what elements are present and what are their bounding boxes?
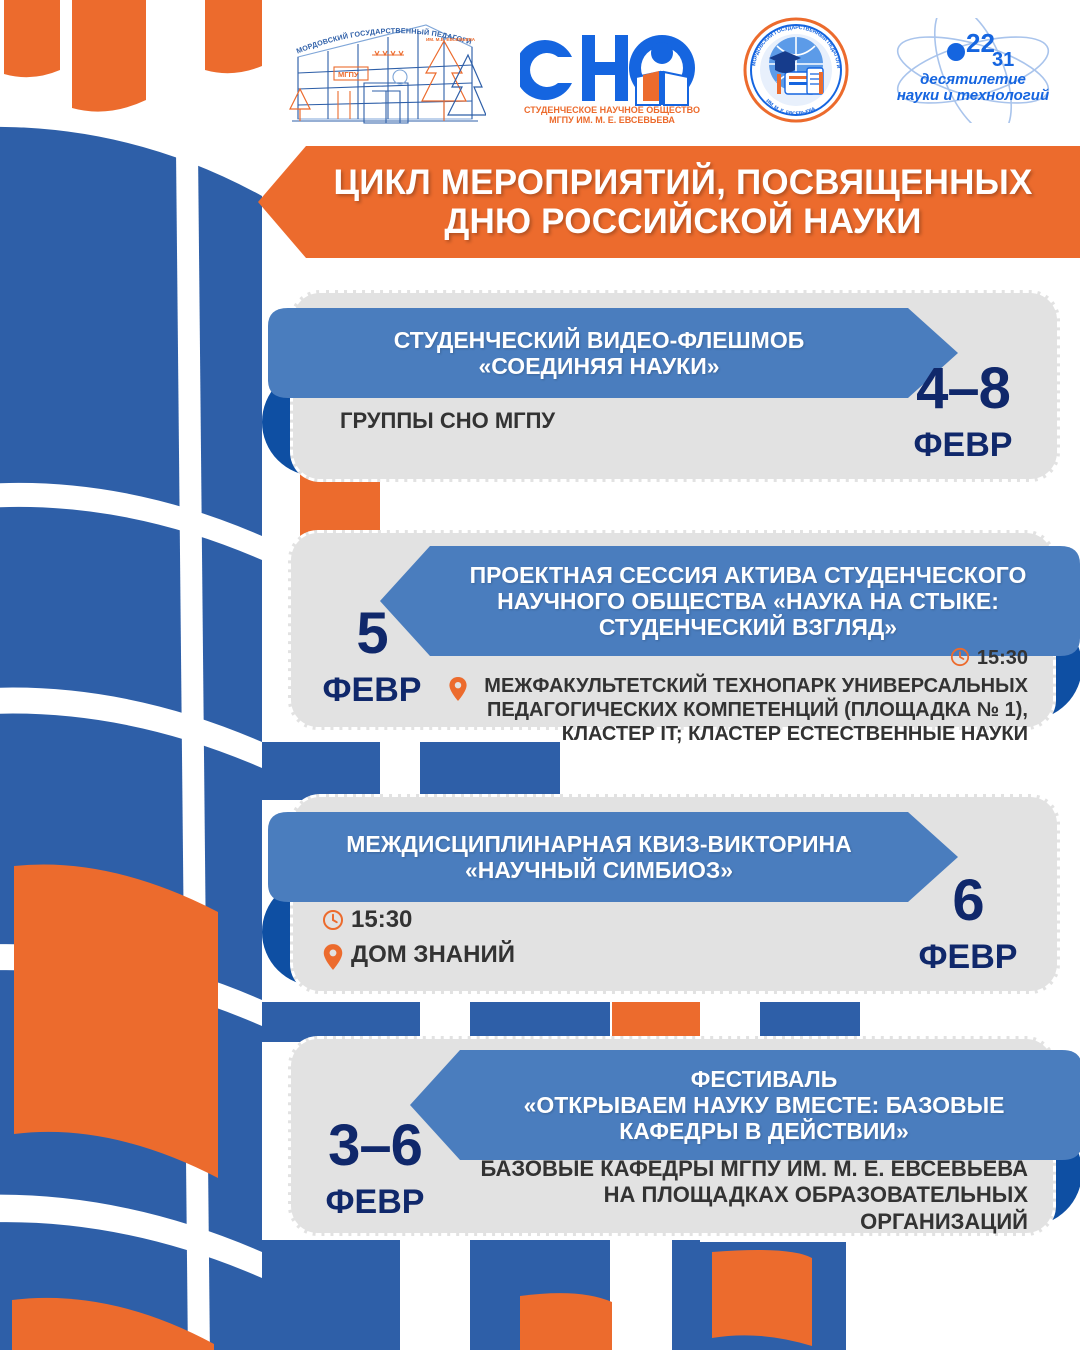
event-details: 15:30 ДОМ ЗНАНИЙ [322, 906, 842, 971]
event-card-video-flashmob[interactable]: СТУДЕНЧЕСКИЙ ВИДЕО-ФЛЕШМОБ «СОЕДИНЯЯ НАУ… [290, 290, 1060, 482]
event-date-month: ФЕВР [919, 940, 1018, 974]
event-title-ribbon: ПРОЕКТНАЯ СЕССИЯ АКТИВА СТУДЕНЧЕСКОГО НА… [380, 546, 1080, 656]
event-date: 6 ФЕВР [898, 864, 1038, 982]
event-title: МЕЖДИСЦИПЛИНАРНАЯ КВИЗ-ВИКТОРИНА «НАУЧНЫ… [268, 812, 958, 902]
event-place-text: ДОМ ЗНАНИЙ [351, 941, 515, 970]
event-title-line-1: СТУДЕНЧЕСКИЙ ВИДЕО-ФЛЕШМОБ [394, 327, 805, 353]
event-card-festival[interactable]: ФЕСТИВАЛЬ «ОТКРЫВАЕМ НАУКУ ВМЕСТЕ: БАЗОВ… [288, 1036, 1056, 1236]
event-title-line-1: ПРОЕКТНАЯ СЕССИЯ АКТИВА СТУДЕНЧЕСКОГО [470, 562, 1027, 588]
event-title-line-3: КАФЕДРЫ В ДЕЙСТВИИ» [619, 1118, 909, 1144]
event-title: ФЕСТИВАЛЬ «ОТКРЫВАЕМ НАУКУ ВМЕСТЕ: БАЗОВ… [410, 1050, 1080, 1160]
decade-of-science-logo: 22 31 десятилетие науки и технологий [888, 18, 1058, 123]
event-time: 15:30 [351, 906, 412, 935]
mgpu-sub-text: ИМ. М.Е. ЕВСЕВЬЕВА [426, 37, 476, 42]
event-details: 15:30 МЕЖФАКУЛЬТЕТСКИЙ ТЕХНОПАРК УНИВЕРС… [448, 646, 1028, 746]
mgpu-building-logo: МОРДОВСКИЙ ГОСУДАРСТВЕННЫЙ ПЕДАГОГИЧЕСКИ… [276, 11, 486, 129]
decade-year-from: 22 [966, 28, 995, 58]
poster-title-banner: ЦИКЛ МЕРОПРИЯТИЙ, ПОСВЯЩЕННЫХ ДНЮ РОССИЙ… [258, 146, 1080, 258]
clock-icon [322, 909, 344, 931]
event-date-month: ФЕВР [914, 428, 1013, 462]
event-date-number: 5 [356, 605, 387, 663]
poster-root: МОРДОВСКИЙ ГОСУДАРСТВЕННЫЙ ПЕДАГОГИЧЕСКИ… [0, 0, 1080, 1350]
event-date: 3–6 ФЕВР [300, 1108, 450, 1228]
event-date-number: 6 [952, 872, 983, 930]
event-card-project-session[interactable]: ПРОЕКТНАЯ СЕССИЯ АКТИВА СТУДЕНЧЕСКОГО НА… [288, 530, 1056, 730]
event-title-line-2: «ОТКРЫВАЕМ НАУКУ ВМЕСТЕ: БАЗОВЫЕ [524, 1092, 1005, 1118]
event-title-line-1: ФЕСТИВАЛЬ [691, 1066, 838, 1092]
sno-logo: СТУДЕНЧЕСКОЕ НАУЧНОЕ ОБЩЕСТВО МГПУ ИМ. М… [520, 15, 705, 125]
event-title: ПРОЕКТНАЯ СЕССИЯ АКТИВА СТУДЕНЧЕСКОГО НА… [380, 546, 1080, 656]
event-title-line-1: МЕЖДИСЦИПЛИНАРНАЯ КВИЗ-ВИКТОРИНА [346, 831, 852, 857]
svg-text:МОРДОВСКИЙ ГОСУДАРСТВЕННЫЙ ПЕД: МОРДОВСКИЙ ГОСУДАРСТВЕННЫЙ ПЕДАГОГИЧЕСКИ… [276, 11, 473, 55]
event-date-number: 3–6 [328, 1117, 422, 1175]
event-title-line-2: «НАУЧНЫЙ СИМБИОЗ» [465, 857, 733, 883]
university-seal-logo: МОРДОВСКИЙ ГОСУДАРСТВЕННЫЙ ПЕДАГОГИЧЕСКИ… [739, 16, 854, 124]
event-place-row: МЕЖФАКУЛЬТЕТСКИЙ ТЕХНОПАРК УНИВЕРСАЛЬНЫХ… [448, 674, 1028, 746]
event-place: БАЗОВЫЕ КАФЕДРЫ МГПУ ИМ. М. Е. ЕВСЕВЬЕВА… [448, 1156, 1028, 1235]
event-title-ribbon: МЕЖДИСЦИПЛИНАРНАЯ КВИЗ-ВИКТОРИНА «НАУЧНЫ… [268, 812, 958, 902]
map-pin-icon [448, 676, 468, 702]
poster-title-line1: ЦИКЛ МЕРОПРИЯТИЙ, ПОСВЯЩЕННЫХ [333, 163, 1032, 202]
event-place-row: ДОМ ЗНАНИЙ [322, 941, 842, 971]
map-pin-icon [322, 943, 344, 971]
clock-icon [950, 647, 970, 667]
sno-caption-line2: МГПУ ИМ. М. Е. ЕВСЕВЬЕВА [549, 115, 675, 125]
decade-line2: науки и технологий [897, 87, 1049, 104]
event-time-row: 15:30 [448, 646, 1028, 670]
event-place-text: МЕЖФАКУЛЬТЕТСКИЙ ТЕХНОПАРК УНИВЕРСАЛЬНЫХ… [475, 674, 1028, 746]
event-card-quiz[interactable]: МЕЖДИСЦИПЛИНАРНАЯ КВИЗ-ВИКТОРИНА «НАУЧНЫ… [290, 794, 1060, 994]
decade-year-to: 31 [992, 49, 1014, 71]
event-date-month: ФЕВР [323, 673, 422, 707]
event-place-text: ГРУППЫ СНО МГПУ [340, 408, 555, 433]
event-title: СТУДЕНЧЕСКИЙ ВИДЕО-ФЛЕШМОБ «СОЕДИНЯЯ НАУ… [268, 308, 958, 398]
event-title-ribbon: СТУДЕНЧЕСКИЙ ВИДЕО-ФЛЕШМОБ «СОЕДИНЯЯ НАУ… [268, 308, 958, 398]
event-place: ГРУППЫ СНО МГПУ [340, 408, 900, 434]
sno-caption-line1: СТУДЕНЧЕСКОЕ НАУЧНОЕ ОБЩЕСТВО [524, 105, 700, 115]
event-time-row: 15:30 [322, 906, 842, 935]
event-date-number: 4–8 [916, 360, 1010, 418]
poster-title-line2: ДНЮ РОССИЙСКОЙ НАУКИ [444, 202, 921, 241]
mgpu-sign-text: МГПУ [338, 70, 359, 79]
event-date: 4–8 ФЕВР [888, 352, 1038, 470]
event-place-text: БАЗОВЫЕ КАФЕДРЫ МГПУ ИМ. М. Е. ЕВСЕВЬЕВА… [481, 1156, 1028, 1234]
poster-title: ЦИКЛ МЕРОПРИЯТИЙ, ПОСВЯЩЕННЫХ ДНЮ РОССИЙ… [258, 146, 1080, 258]
event-date-month: ФЕВР [326, 1185, 425, 1219]
event-title-line-3: СТУДЕНЧЕСКИЙ ВЗГЛЯД» [599, 614, 897, 640]
event-date: 5 ФЕВР [302, 596, 442, 716]
event-title-line-2: «СОЕДИНЯЯ НАУКИ» [478, 353, 719, 379]
decade-line1: десятилетие [920, 71, 1026, 88]
mgpu-arc-text: МОРДОВСКИЙ ГОСУДАРСТВЕННЫЙ ПЕДАГОГИЧЕСКИ… [276, 11, 473, 55]
event-title-ribbon: ФЕСТИВАЛЬ «ОТКРЫВАЕМ НАУКУ ВМЕСТЕ: БАЗОВ… [410, 1050, 1080, 1160]
event-time: 15:30 [977, 646, 1028, 670]
logo-row: МОРДОВСКИЙ ГОСУДАРСТВЕННЫЙ ПЕДАГОГИЧЕСКИ… [0, 0, 1080, 140]
event-title-line-2: НАУЧНОГО ОБЩЕСТВА «НАУКА НА СТЫКЕ: [497, 588, 999, 614]
